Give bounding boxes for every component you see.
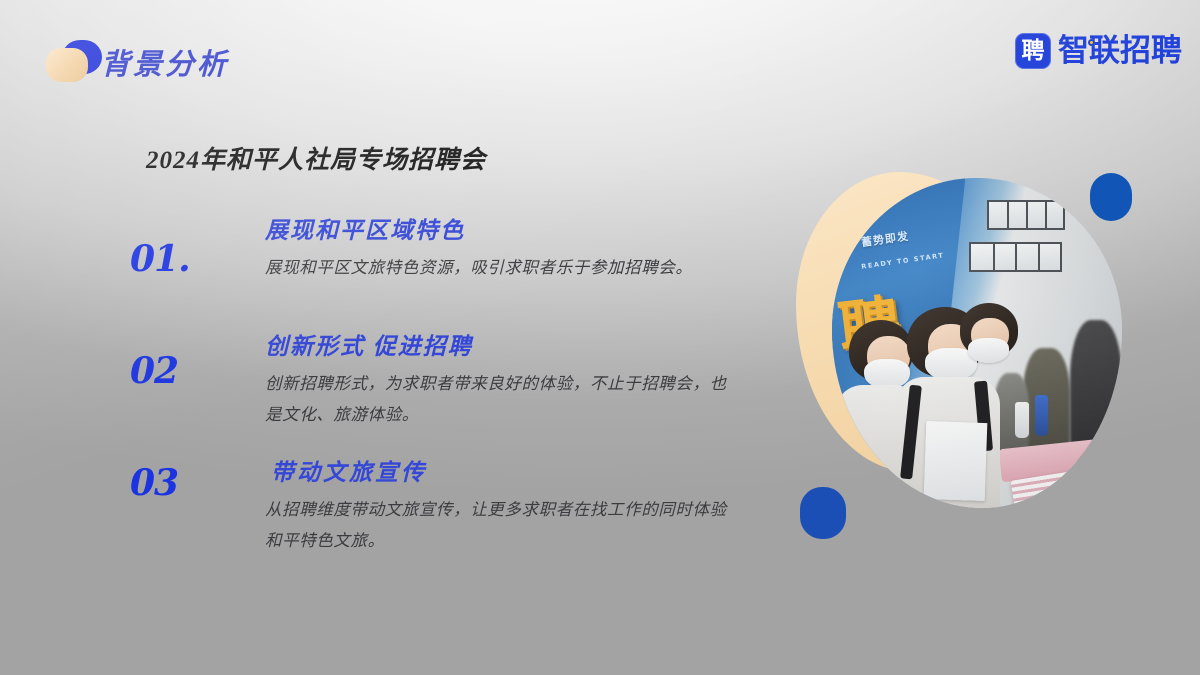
beige-blob-icon: [46, 48, 88, 82]
brand-logo: 聘 智联招聘: [1015, 33, 1182, 69]
section-title: 背景分析: [101, 41, 229, 83]
list-item: 01. 展现和平区域特色 展现和平区文旅特色资源，吸引求职者乐于参加招聘会。: [130, 215, 750, 323]
point-description: 展现和平区文旅特色资源，吸引求职者乐于参加招聘会。: [265, 253, 735, 284]
photo-vignette: [832, 178, 1122, 508]
point-heading: 带动文旅宣传: [265, 457, 750, 488]
brand-name: 智联招聘: [1058, 36, 1182, 67]
points-list: 01. 展现和平区域特色 展现和平区文旅特色资源，吸引求职者乐于参加招聘会。 0…: [130, 215, 750, 539]
blue-accent-dot-top-right: [1090, 173, 1132, 221]
point-number: 03: [130, 465, 220, 501]
point-description: 从招聘维度带动文旅宣传，让更多求职者在找工作的同时体验和平特色文旅。: [265, 495, 740, 556]
point-heading: 创新形式 促进招聘: [265, 331, 750, 362]
point-number: 01.: [130, 241, 220, 277]
blue-accent-dot-bottom-left: [800, 487, 846, 539]
zhaopin-mark-icon: 聘: [1015, 33, 1051, 69]
brand-accent-dot-icon: [1088, 39, 1095, 46]
brand-name-text: 智联招聘: [1058, 33, 1182, 69]
slide-root: 背景分析 聘 智联招聘 2024年和平人社局专场招聘会 01. 展现和平区域特色…: [0, 0, 1200, 675]
point-body: 创新形式 促进招聘 创新招聘形式，为求职者带来良好的体验，不止于招聘会，也是文化…: [265, 331, 750, 430]
list-item: 02 创新形式 促进招聘 创新招聘形式，为求职者带来良好的体验，不止于招聘会，也…: [130, 331, 750, 439]
point-body: 展现和平区域特色 展现和平区文旅特色资源，吸引求职者乐于参加招聘会。: [265, 215, 750, 284]
point-description: 创新招聘形式，为求职者带来良好的体验，不止于招聘会，也是文化、旅游体验。: [265, 369, 735, 430]
header-decoration: [46, 40, 102, 80]
page-title: 2024年和平人社局专场招聘会: [146, 140, 486, 176]
point-body: 带动文旅宣传 从招聘维度带动文旅宣传，让更多求职者在找工作的同时体验和平特色文旅…: [265, 457, 750, 556]
event-photo: 蓄势即发 READY TO START 聘: [832, 178, 1122, 508]
photo-cluster: 蓄势即发 READY TO START 聘: [780, 150, 1180, 600]
list-item: 03 带动文旅宣传 从招聘维度带动文旅宣传，让更多求职者在找工作的同时体验和平特…: [130, 457, 750, 565]
point-number: 02: [130, 353, 220, 389]
point-heading: 展现和平区域特色: [265, 215, 750, 246]
